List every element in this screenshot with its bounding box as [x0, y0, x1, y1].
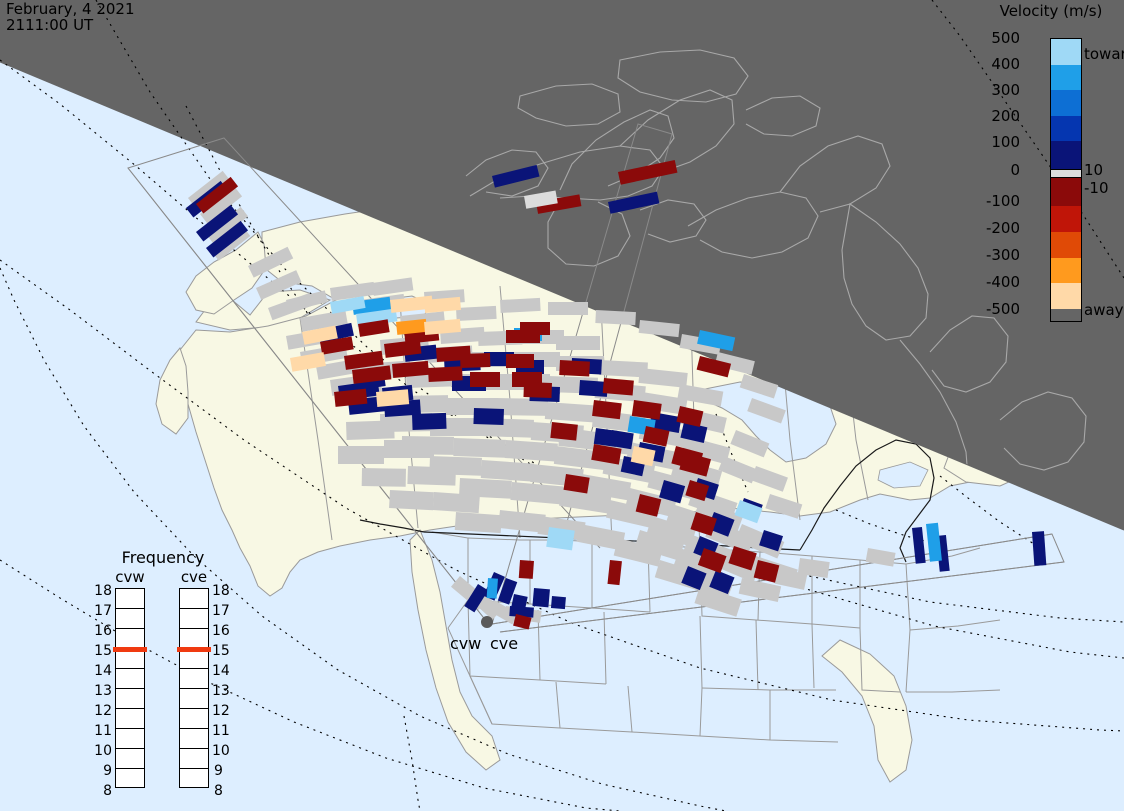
frequency-col-label-cvw: cvw: [108, 568, 152, 586]
freq-tick-cve: 8: [214, 786, 238, 796]
freq-tick-cve: 11: [212, 726, 236, 736]
date-label: February, 4 2021: [6, 1, 135, 17]
freq-cell: [116, 709, 144, 729]
colorbar-tick-0: 0: [974, 164, 1020, 176]
colorbar-tick-300: 300: [974, 84, 1020, 96]
freq-cell: [180, 749, 208, 769]
frequency-marker-cve: [177, 647, 211, 652]
freq-tick-cvw: 17: [88, 606, 112, 616]
frequency-bar-cve: [179, 588, 209, 788]
freq-tick-cvw: 13: [88, 686, 112, 696]
freq-cell: [116, 769, 144, 789]
radar-label-cve: cve: [490, 634, 518, 653]
freq-cell: [180, 669, 208, 689]
cb-seg-400-500: [1051, 39, 1081, 65]
radar-map-figure: February, 4 2021 2111:00 UT cvw cve Velo…: [0, 0, 1124, 811]
freq-tick-cvw: 12: [88, 706, 112, 716]
colorbar-tick-100: 100: [974, 136, 1020, 148]
freq-cell: [116, 649, 144, 669]
colorbar-tick-m500: -500: [974, 303, 1020, 315]
freq-cell: [180, 689, 208, 709]
freq-cell: [180, 649, 208, 669]
freq-cell: [180, 629, 208, 649]
frequency-col-label-cve: cve: [172, 568, 216, 586]
freq-cell: [116, 629, 144, 649]
colorbar-tick-400: 400: [974, 58, 1020, 70]
freq-tick-cve: 9: [214, 766, 238, 776]
freq-cell: [180, 729, 208, 749]
freq-tick-cvw: 16: [88, 626, 112, 636]
frequency-marker-cvw: [113, 647, 147, 652]
freq-tick-cve: 14: [212, 666, 236, 676]
freq-cell: [116, 669, 144, 689]
freq-cell: [116, 589, 144, 609]
freq-cell: [180, 609, 208, 629]
freq-tick-cve: 15: [212, 646, 236, 656]
freq-cell: [180, 589, 208, 609]
colorbar-zero-lower: -10: [1084, 182, 1109, 194]
colorbar-tick-200: 200: [974, 110, 1020, 122]
cb-seg-200-300: [1051, 90, 1081, 116]
frequency-legend: Frequency cvw cve: [88, 548, 238, 796]
freq-tick-cve: 17: [212, 606, 236, 616]
freq-tick-cve: 13: [212, 686, 236, 696]
freq-tick-cvw: 14: [88, 666, 112, 676]
freq-tick-cvw: 11: [88, 726, 112, 736]
freq-cell: [116, 729, 144, 749]
cb-seg-10-100: [1051, 141, 1081, 169]
colorbar-zero-upper: 10: [1084, 164, 1103, 176]
colorbar-tick-m400: -400: [974, 276, 1020, 288]
freq-tick-cve: 16: [212, 626, 236, 636]
freq-cell: [116, 689, 144, 709]
freq-cell: [116, 749, 144, 769]
colorbar-tick-500: 500: [974, 32, 1020, 44]
frequency-bar-cvw: [115, 588, 145, 788]
cb-seg-300-400: [1051, 65, 1081, 91]
freq-tick-cvw: 8: [88, 786, 112, 796]
freq-tick-cve: 18: [212, 586, 236, 596]
cb-seg-m400-m300: [1051, 258, 1081, 284]
freq-tick-cvw: 9: [88, 766, 112, 776]
freq-cell: [180, 709, 208, 729]
cb-seg-100-200: [1051, 116, 1081, 142]
freq-tick-cvw: 18: [88, 586, 112, 596]
timestamp-block: February, 4 2021 2111:00 UT: [6, 1, 135, 33]
radar-label-cvw: cvw: [450, 634, 481, 653]
colorbar-title: Velocity (m/s): [978, 2, 1124, 20]
freq-cell: [180, 769, 208, 789]
freq-tick-cve: 12: [212, 706, 236, 716]
cb-seg-m100-m10: [1051, 178, 1081, 206]
cb-seg-m200-m100: [1051, 206, 1081, 232]
freq-tick-cve: 10: [212, 746, 236, 756]
colorbar-tick-m300: -300: [974, 249, 1020, 261]
radar-site-marker: [481, 616, 493, 628]
frequency-title: Frequency: [88, 548, 238, 567]
colorbar-tick-m100: -100: [974, 195, 1020, 207]
colorbar-swatches: [1050, 38, 1082, 322]
colorbar-toward-label: toward: [1084, 48, 1124, 60]
velocity-colorbar: Velocity (m/s) 500 400 300 200 100 0 -10…: [978, 0, 1124, 330]
freq-cell: [116, 609, 144, 629]
colorbar-away-label: away: [1084, 304, 1124, 316]
freq-tick-cvw: 15: [88, 646, 112, 656]
time-label: 2111:00 UT: [6, 17, 135, 33]
colorbar-tick-m200: -200: [974, 222, 1020, 234]
freq-tick-cvw: 10: [88, 746, 112, 756]
cb-seg-m300-m200: [1051, 232, 1081, 258]
cb-seg-zero: [1051, 169, 1081, 178]
cb-seg-m500-m400: [1051, 283, 1081, 309]
